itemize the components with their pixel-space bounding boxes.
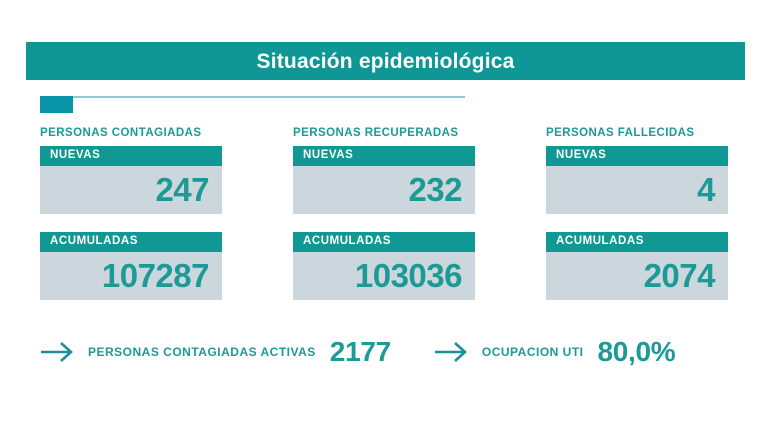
card-body-acumuladas-contagiadas: 107287 [40,252,222,300]
epidemiological-dashboard: Situación epidemiológica PERSONAS CONTAG… [0,0,771,438]
card-band-label: NUEVAS [303,150,353,162]
page-title: Situación epidemiológica [256,51,514,72]
stat-column-contagiadas-acumuladas: ACUMULADAS 107287 [40,232,222,300]
stats-grid: PERSONAS CONTAGIADAS NUEVAS 247 PERSONAS… [40,128,730,300]
stat-value-acumuladas-contagiadas: 107287 [102,259,209,292]
card-body-nuevas-recuperadas: 232 [293,166,475,214]
stat-column-recuperadas: PERSONAS RECUPERADAS NUEVAS 232 [293,128,475,214]
footer-label-ocupacion-uti: OCUPACION UTI [482,346,584,358]
card-band-label: ACUMULADAS [303,236,391,248]
footer-item-ocupacion-uti: OCUPACION UTI 80,0% [434,338,676,366]
card-band-label: NUEVAS [50,150,100,162]
card-body-nuevas-fallecidas: 4 [546,166,728,214]
card-band-label: ACUMULADAS [556,236,644,248]
progress-track [40,96,465,98]
card-band-acumuladas-fallecidas: ACUMULADAS [546,232,728,252]
card-band-label: NUEVAS [556,150,606,162]
stat-column-recuperadas-acumuladas: ACUMULADAS 103036 [293,232,475,300]
progress-fill [40,96,73,113]
card-band-nuevas-fallecidas: NUEVAS [546,146,728,166]
column-title-recuperadas: PERSONAS RECUPERADAS [293,128,475,140]
stats-row-acumuladas: ACUMULADAS 107287 ACUMULADAS 103036 ACUM… [40,232,730,300]
footer-label-contagiadas-activas: PERSONAS CONTAGIADAS ACTIVAS [88,346,316,358]
row-spacer [40,214,730,232]
stat-column-fallecidas: PERSONAS FALLECIDAS NUEVAS 4 [546,128,728,214]
stat-value-acumuladas-recuperadas: 103036 [355,259,462,292]
footer-value-ocupacion-uti: 80,0% [598,338,676,366]
card-body-acumuladas-fallecidas: 2074 [546,252,728,300]
footer-value-contagiadas-activas: 2177 [330,338,391,366]
stat-value-nuevas-recuperadas: 232 [408,173,462,206]
card-band-acumuladas-recuperadas: ACUMULADAS [293,232,475,252]
stat-column-contagiadas: PERSONAS CONTAGIADAS NUEVAS 247 [40,128,222,214]
stat-value-acumuladas-fallecidas: 2074 [644,259,715,292]
card-band-nuevas-contagiadas: NUEVAS [40,146,222,166]
column-title-fallecidas: PERSONAS FALLECIDAS [546,128,728,140]
arrow-right-icon [434,340,470,364]
header-banner: Situación epidemiológica [26,42,745,80]
stat-column-fallecidas-acumuladas: ACUMULADAS 2074 [546,232,728,300]
arrow-right-icon [40,340,76,364]
footer-summary-row: PERSONAS CONTAGIADAS ACTIVAS 2177 OCUPAC… [40,338,740,366]
card-band-nuevas-recuperadas: NUEVAS [293,146,475,166]
stat-value-nuevas-fallecidas: 4 [697,173,715,206]
card-band-acumuladas-contagiadas: ACUMULADAS [40,232,222,252]
stat-value-nuevas-contagiadas: 247 [155,173,209,206]
footer-item-contagiadas-activas: PERSONAS CONTAGIADAS ACTIVAS 2177 [40,338,391,366]
card-body-acumuladas-recuperadas: 103036 [293,252,475,300]
progress-indicator[interactable] [40,96,465,113]
card-body-nuevas-contagiadas: 247 [40,166,222,214]
card-band-label: ACUMULADAS [50,236,138,248]
stats-row-nuevas: PERSONAS CONTAGIADAS NUEVAS 247 PERSONAS… [40,128,730,214]
column-title-contagiadas: PERSONAS CONTAGIADAS [40,128,222,140]
